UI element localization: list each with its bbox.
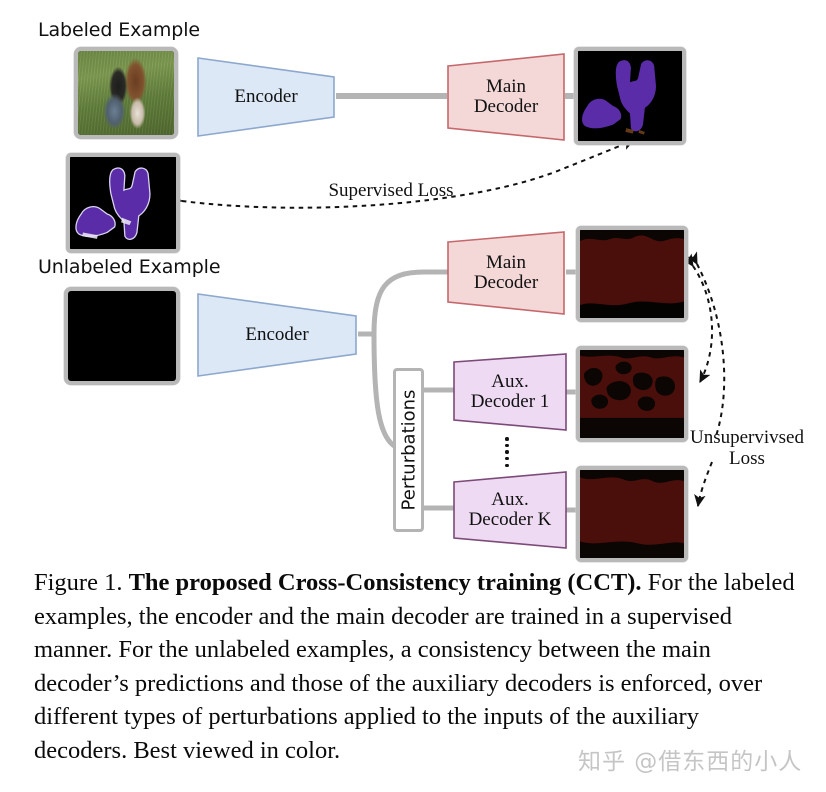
aux-decoder-1-block[interactable]: Aux. Decoder 1	[452, 352, 568, 432]
aux-decoder-1-prediction-content	[580, 350, 684, 438]
labeled-input-image	[74, 47, 178, 139]
encoder-bottom-block[interactable]: Encoder	[196, 292, 358, 378]
caption-bold: The proposed Cross-Consistency training …	[129, 569, 642, 596]
supervised-loss-label: Supervised Loss	[306, 180, 476, 201]
aux-decoder-ellipsis	[504, 437, 510, 467]
caption-prefix: Figure 1.	[34, 569, 129, 596]
unlabeled-example-heading: Unlabeled Example	[38, 256, 220, 278]
aux-decoder-k-prediction-content	[580, 470, 684, 558]
figure-caption: Figure 1. The proposed Cross-Consistency…	[34, 566, 798, 767]
encoder-top-block[interactable]: Encoder	[196, 56, 336, 138]
figure-diagram: Labeled Example Unlabeled Example	[0, 0, 826, 560]
unlabeled-input-image-content	[68, 291, 176, 381]
main-decoder-unlabeled-prediction-content	[580, 230, 684, 318]
main-decoder-unlabeled-prediction-image	[576, 226, 688, 322]
labeled-example-heading: Labeled Example	[38, 19, 200, 41]
ground-truth-mask-content	[70, 157, 176, 249]
watermark-text: 知乎 @借东西的小人	[578, 742, 802, 776]
ground-truth-mask-image	[66, 153, 180, 253]
perturbations-label: Perturbations	[398, 390, 419, 511]
unlabeled-input-image	[64, 287, 180, 385]
aux-decoder-k-prediction-image	[576, 466, 688, 562]
main-decoder-bottom-block[interactable]: Main Decoder	[446, 230, 566, 316]
perturbations-block[interactable]: Perturbations	[393, 368, 424, 532]
labeled-input-image-content	[78, 51, 174, 135]
caption-body: For the labeled examples, the encoder an…	[34, 569, 795, 764]
main-decoder-prediction-image	[574, 47, 686, 145]
main-decoder-top-block[interactable]: Main Decoder	[446, 52, 566, 142]
aux-decoder-k-block[interactable]: Aux. Decoder K	[452, 470, 568, 550]
unsupervised-loss-label: Unsupervivsed Loss	[672, 427, 822, 470]
main-decoder-prediction-content	[578, 51, 682, 141]
